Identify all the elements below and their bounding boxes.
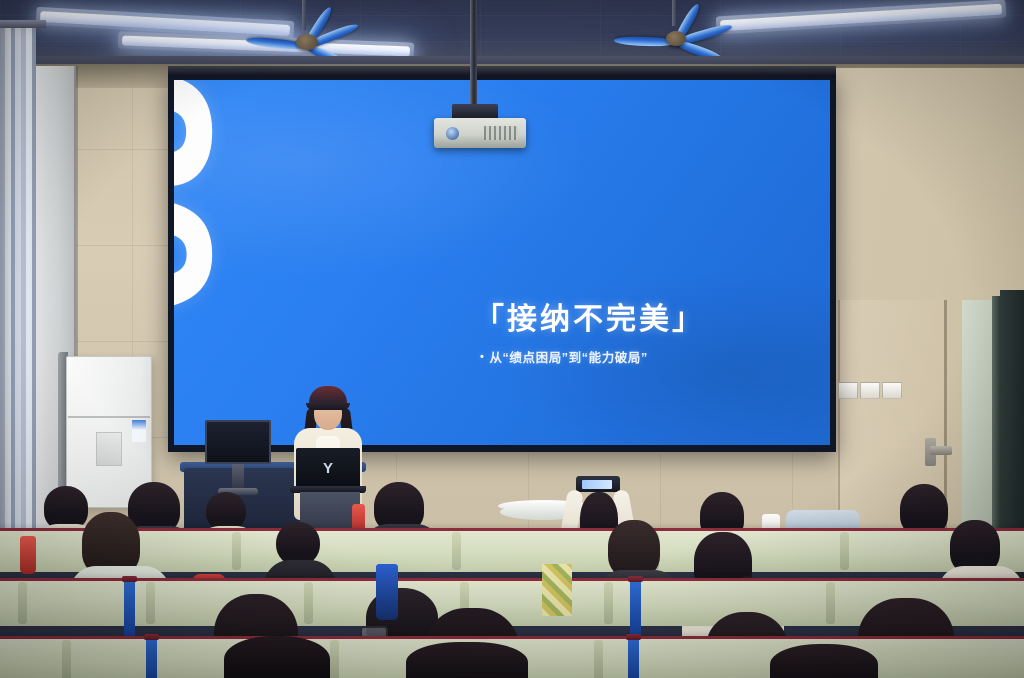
fan-rod-left: [302, 0, 306, 30]
seat-divider: [62, 640, 71, 678]
seat-support-post: [628, 636, 639, 678]
seat-divider: [304, 582, 313, 624]
wall-switch[interactable]: [860, 382, 880, 399]
slide-big-number: 20.: [174, 80, 236, 367]
seat-divider: [232, 532, 241, 570]
seat-row-1[interactable]: [0, 528, 1024, 572]
person-hair: [224, 636, 330, 678]
seat-divider: [826, 582, 835, 624]
seat-divider: [840, 532, 849, 570]
wall-switch[interactable]: [882, 382, 902, 399]
cabinet-control-panel[interactable]: [96, 432, 122, 466]
seat-divider: [18, 582, 27, 624]
lecture-hall-scene: 20. 「接纳不完美」 •从“绩点困局”到“能力破局” Y: [0, 0, 1024, 678]
seat-support-post: [146, 636, 157, 678]
bullet-icon: •: [480, 351, 484, 363]
desktop-monitor: [205, 420, 271, 464]
seat-post-cap: [628, 576, 643, 582]
projector-mount-pole: [470, 0, 477, 108]
slide-subtitle-text: 从“绩点困局”到“能力破局”: [489, 351, 647, 365]
seat-divider: [146, 582, 155, 624]
phone-screen: [582, 480, 612, 489]
red-thermos: [20, 536, 36, 574]
slide-subtitle: •从“绩点困局”到“能力破局”: [480, 347, 648, 366]
laptop-brand-logo: Y: [323, 460, 333, 477]
cabinet-seam: [68, 416, 150, 418]
audience-seating: [0, 486, 1024, 678]
seat-support-post: [630, 578, 641, 638]
curtain-rail: [0, 20, 46, 28]
seat-divider: [594, 640, 603, 678]
seat-divider: [604, 582, 613, 624]
fan-hub-left: [296, 34, 318, 50]
seat-post-cap: [122, 576, 137, 582]
seat-post-cap: [626, 634, 641, 640]
floral-tote-bag: [542, 564, 572, 616]
person-hair: [770, 644, 878, 678]
presenter-laptop: Y: [296, 448, 360, 486]
slide-title: 「接纳不完美」: [474, 294, 705, 338]
seat-divider: [452, 532, 461, 570]
fan-rod-right: [672, 0, 676, 26]
presenter-cap-brim: [306, 403, 350, 410]
projector-lens-icon: [446, 127, 459, 140]
ceiling-projector: [434, 118, 526, 148]
wall-switch-panel[interactable]: [838, 382, 902, 399]
seat-post-cap: [144, 634, 159, 640]
projector-vent: [484, 126, 518, 140]
person-hair: [406, 642, 528, 678]
cabinet-label-sticker: [132, 420, 146, 442]
wall-switch[interactable]: [838, 382, 858, 399]
seat-support-post: [124, 578, 135, 638]
door-handle[interactable]: [930, 446, 952, 455]
fan-hub-right: [666, 31, 686, 46]
blue-water-bottle: [376, 564, 398, 620]
seat-divider: [330, 640, 339, 678]
window-curtain[interactable]: [0, 24, 36, 544]
